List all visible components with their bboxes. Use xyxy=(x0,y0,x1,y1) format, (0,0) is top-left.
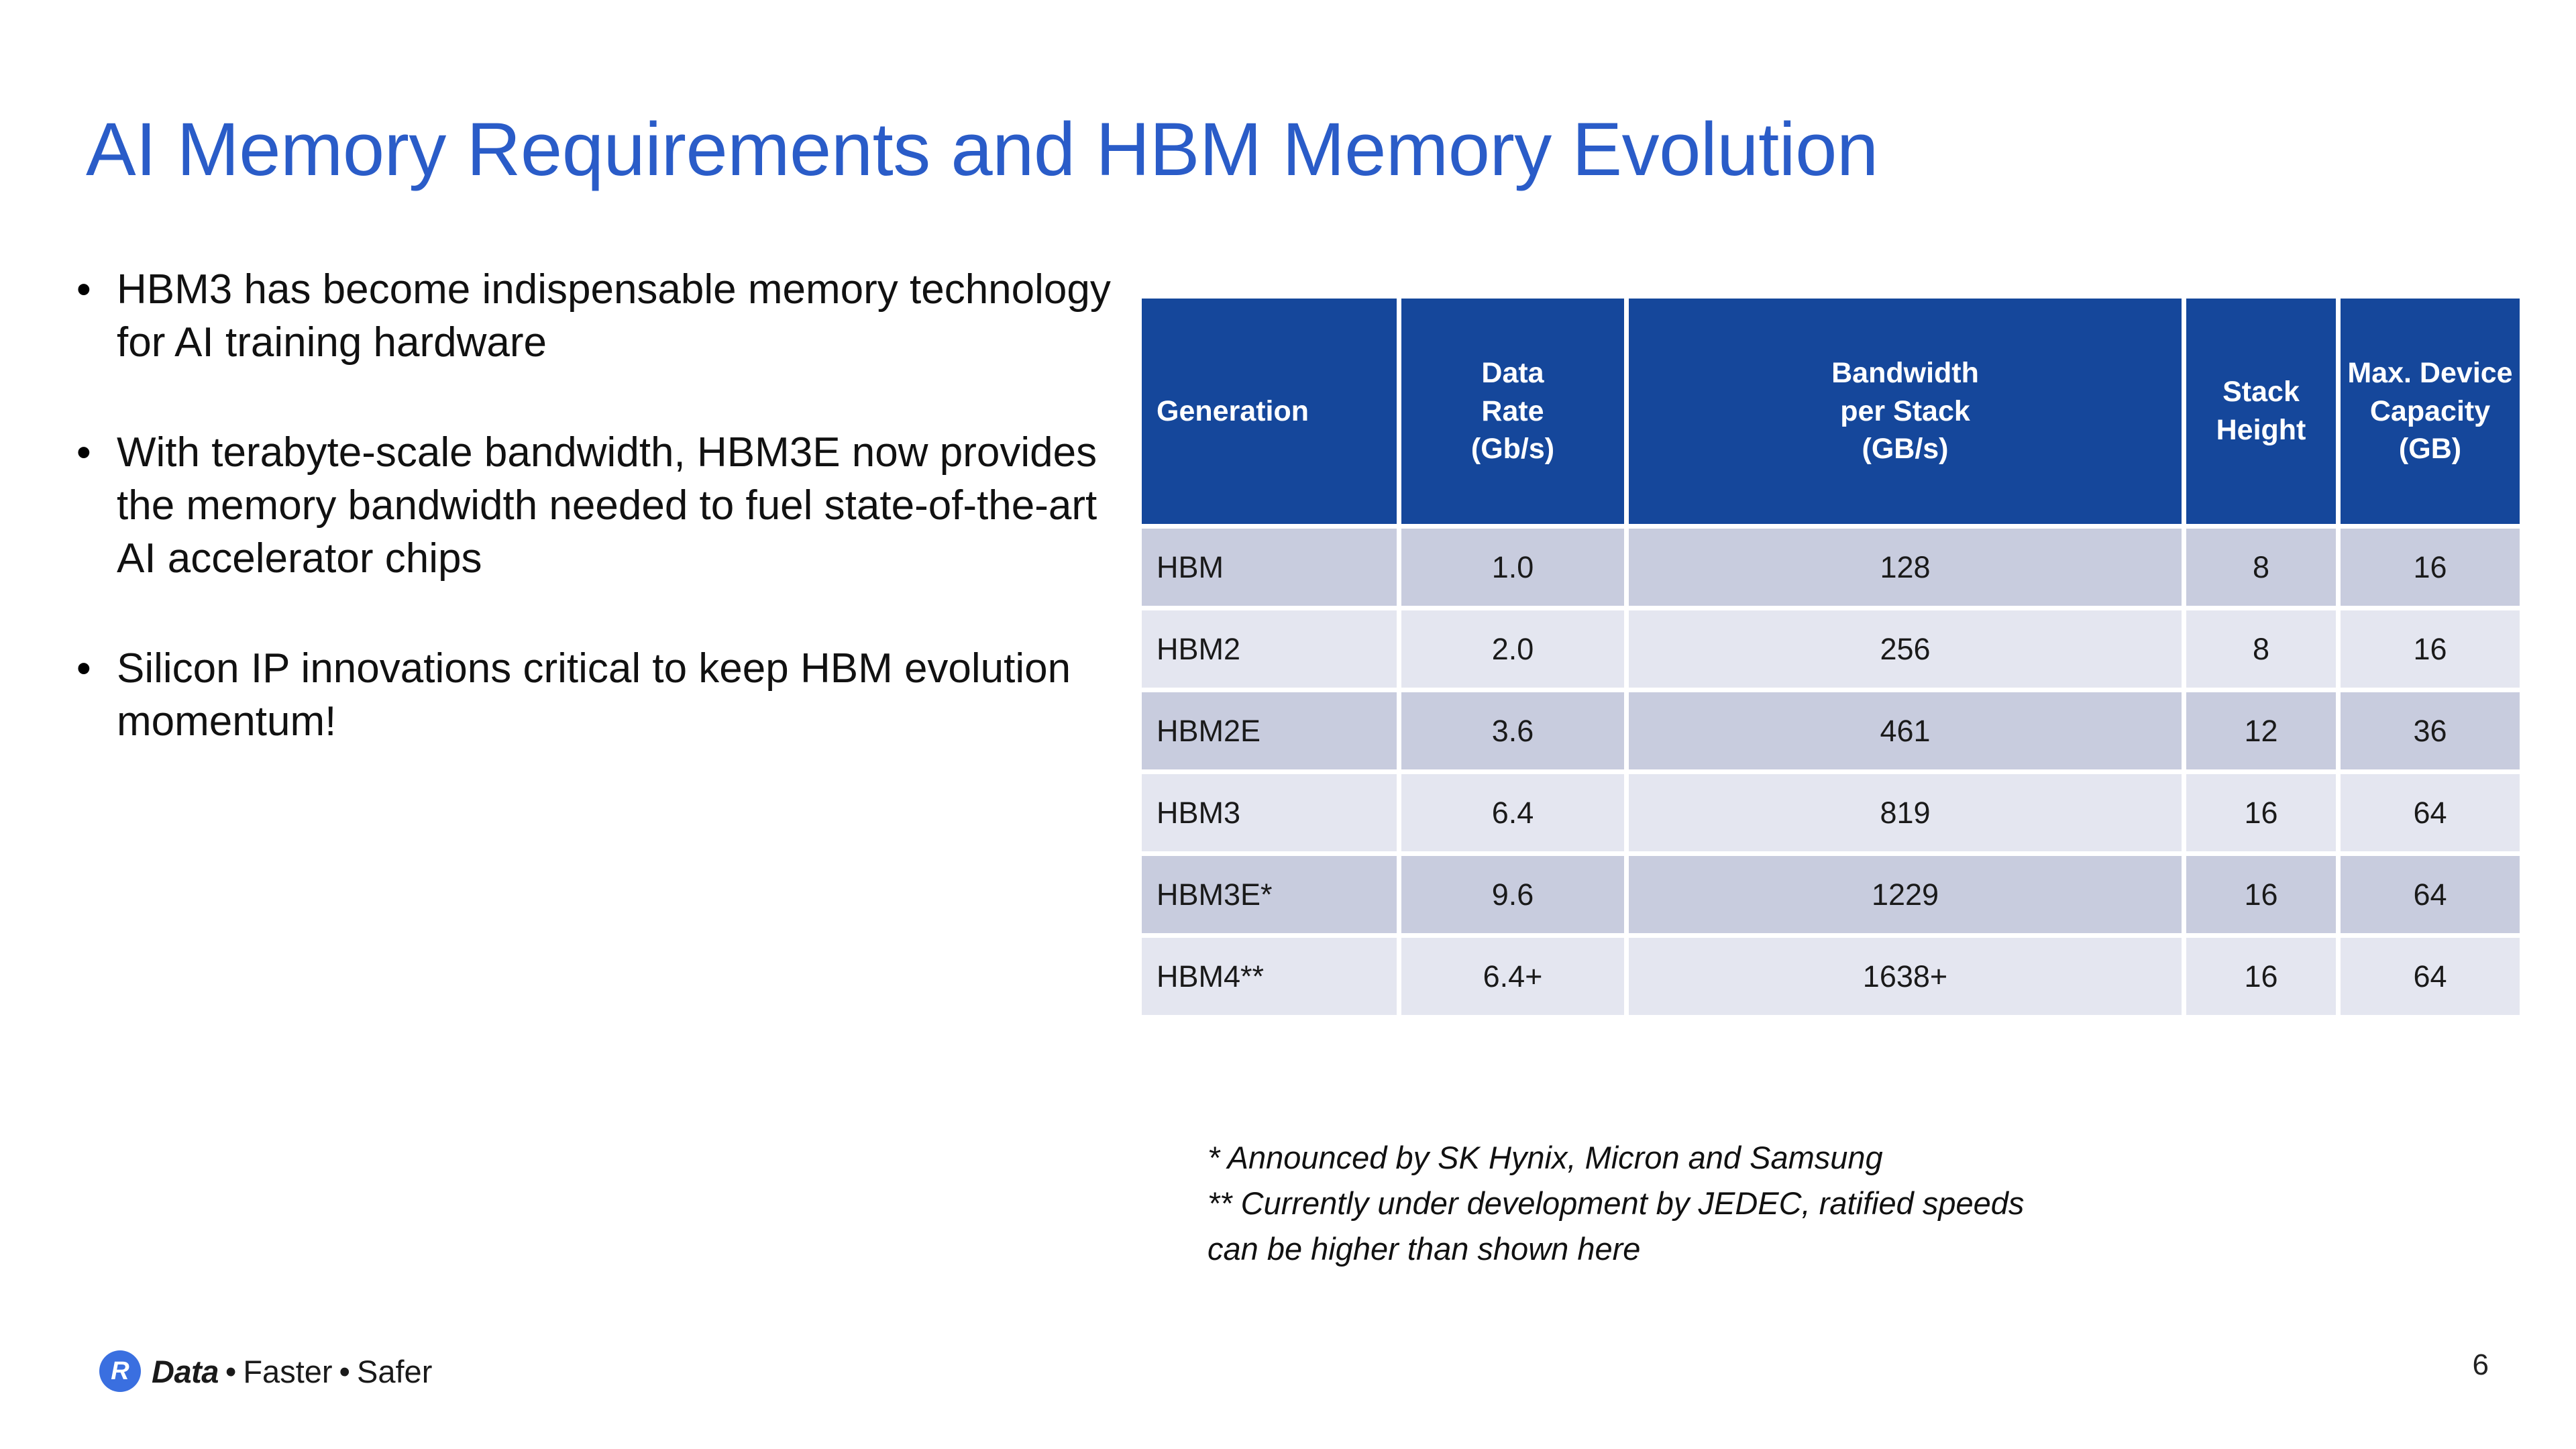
cell-bandwidth-per-stack: 461 xyxy=(1629,692,2182,769)
header-line: Height xyxy=(2186,411,2336,449)
header-line: Rate xyxy=(1401,392,1624,431)
header-line: Stack xyxy=(2186,373,2336,411)
table-body: HBM 1.0 128 8 16 HBM2 2.0 256 8 16 HBM2E… xyxy=(1142,529,2520,1015)
header-line: Generation xyxy=(1157,392,1397,431)
bullet-marker-icon: • xyxy=(64,426,117,479)
bullet-text: HBM3 has become indispensable memory tec… xyxy=(117,263,1124,370)
cell-max-device-capacity: 36 xyxy=(2341,692,2520,769)
header-line: Bandwidth xyxy=(1629,354,2182,392)
cell-stack-height: 16 xyxy=(2186,856,2336,933)
cell-stack-height: 12 xyxy=(2186,692,2336,769)
table-row: HBM2 2.0 256 8 16 xyxy=(1142,610,2520,688)
table-footnotes: * Announced by SK Hynix, Micron and Sams… xyxy=(1207,1135,2482,1272)
cell-data-rate: 9.6 xyxy=(1401,856,1624,933)
list-item: • Silicon IP innovations critical to kee… xyxy=(64,642,1124,749)
cell-generation: HBM4** xyxy=(1142,938,1397,1015)
table-row: HBM3 6.4 819 16 64 xyxy=(1142,774,2520,851)
footer-separator-dot-icon: • xyxy=(219,1353,243,1390)
column-header-max-device-capacity: Max. Device Capacity (GB) xyxy=(2341,299,2520,524)
table-row: HBM3E* 9.6 1229 16 64 xyxy=(1142,856,2520,933)
column-header-data-rate: Data Rate (Gb/s) xyxy=(1401,299,1624,524)
table-row: HBM2E 3.6 461 12 36 xyxy=(1142,692,2520,769)
column-header-stack-height: Stack Height xyxy=(2186,299,2336,524)
list-item: • HBM3 has become indispensable memory t… xyxy=(64,263,1124,370)
footer-word-safer: Safer xyxy=(357,1353,432,1390)
table-row: HBM4** 6.4+ 1638+ 16 64 xyxy=(1142,938,2520,1015)
cell-data-rate: 1.0 xyxy=(1401,529,1624,606)
header-line: per Stack xyxy=(1629,392,2182,431)
cell-bandwidth-per-stack: 819 xyxy=(1629,774,2182,851)
header-line: (GB/s) xyxy=(1629,430,2182,468)
footer-word-data: Data xyxy=(152,1353,219,1390)
cell-bandwidth-per-stack: 128 xyxy=(1629,529,2182,606)
footnote-line-1: * Announced by SK Hynix, Micron and Sams… xyxy=(1207,1135,2482,1181)
bullet-marker-icon: • xyxy=(64,642,117,695)
cell-data-rate: 2.0 xyxy=(1401,610,1624,688)
hbm-specification-table: Generation Data Rate (Gb/s) Bandwidth pe… xyxy=(1137,294,2524,1020)
cell-bandwidth-per-stack: 1638+ xyxy=(1629,938,2182,1015)
table-header: Generation Data Rate (Gb/s) Bandwidth pe… xyxy=(1142,299,2520,524)
cell-data-rate: 6.4 xyxy=(1401,774,1624,851)
footnote-line-3: can be higher than shown here xyxy=(1207,1226,2482,1272)
cell-generation: HBM2 xyxy=(1142,610,1397,688)
bullet-marker-icon: • xyxy=(64,263,117,316)
cell-max-device-capacity: 64 xyxy=(2341,774,2520,851)
cell-bandwidth-per-stack: 1229 xyxy=(1629,856,2182,933)
cell-max-device-capacity: 64 xyxy=(2341,856,2520,933)
table-header-row: Generation Data Rate (Gb/s) Bandwidth pe… xyxy=(1142,299,2520,524)
header-line: Max. Device xyxy=(2341,354,2520,392)
header-line: Data xyxy=(1401,354,1624,392)
footer-word-faster: Faster xyxy=(243,1353,332,1390)
cell-data-rate: 3.6 xyxy=(1401,692,1624,769)
bullet-text: Silicon IP innovations critical to keep … xyxy=(117,642,1124,749)
cell-stack-height: 16 xyxy=(2186,938,2336,1015)
cell-max-device-capacity: 16 xyxy=(2341,610,2520,688)
column-header-generation: Generation xyxy=(1142,299,1397,524)
cell-bandwidth-per-stack: 256 xyxy=(1629,610,2182,688)
rambus-logo-icon: R xyxy=(99,1350,141,1392)
bullet-list: • HBM3 has become indispensable memory t… xyxy=(64,263,1124,805)
header-line: Capacity xyxy=(2341,392,2520,431)
cell-stack-height: 16 xyxy=(2186,774,2336,851)
bullet-text: With terabyte-scale bandwidth, HBM3E now… xyxy=(117,426,1124,586)
footer-branding: R Data • Faster • Safer xyxy=(99,1347,432,1395)
footer-separator-dot-icon: • xyxy=(333,1353,357,1390)
header-line: (GB) xyxy=(2341,430,2520,468)
cell-generation: HBM3 xyxy=(1142,774,1397,851)
cell-generation: HBM2E xyxy=(1142,692,1397,769)
cell-generation: HBM3E* xyxy=(1142,856,1397,933)
footnote-line-2: ** Currently under development by JEDEC,… xyxy=(1207,1181,2482,1226)
page-title: AI Memory Requirements and HBM Memory Ev… xyxy=(86,112,2434,187)
cell-data-rate: 6.4+ xyxy=(1401,938,1624,1015)
column-header-bandwidth-per-stack: Bandwidth per Stack (GB/s) xyxy=(1629,299,2182,524)
header-line: (Gb/s) xyxy=(1401,430,1624,468)
cell-stack-height: 8 xyxy=(2186,610,2336,688)
cell-max-device-capacity: 16 xyxy=(2341,529,2520,606)
list-item: • With terabyte-scale bandwidth, HBM3E n… xyxy=(64,426,1124,586)
table-row: HBM 1.0 128 8 16 xyxy=(1142,529,2520,606)
cell-stack-height: 8 xyxy=(2186,529,2336,606)
cell-max-device-capacity: 64 xyxy=(2341,938,2520,1015)
cell-generation: HBM xyxy=(1142,529,1397,606)
page-number: 6 xyxy=(2449,1348,2489,1382)
